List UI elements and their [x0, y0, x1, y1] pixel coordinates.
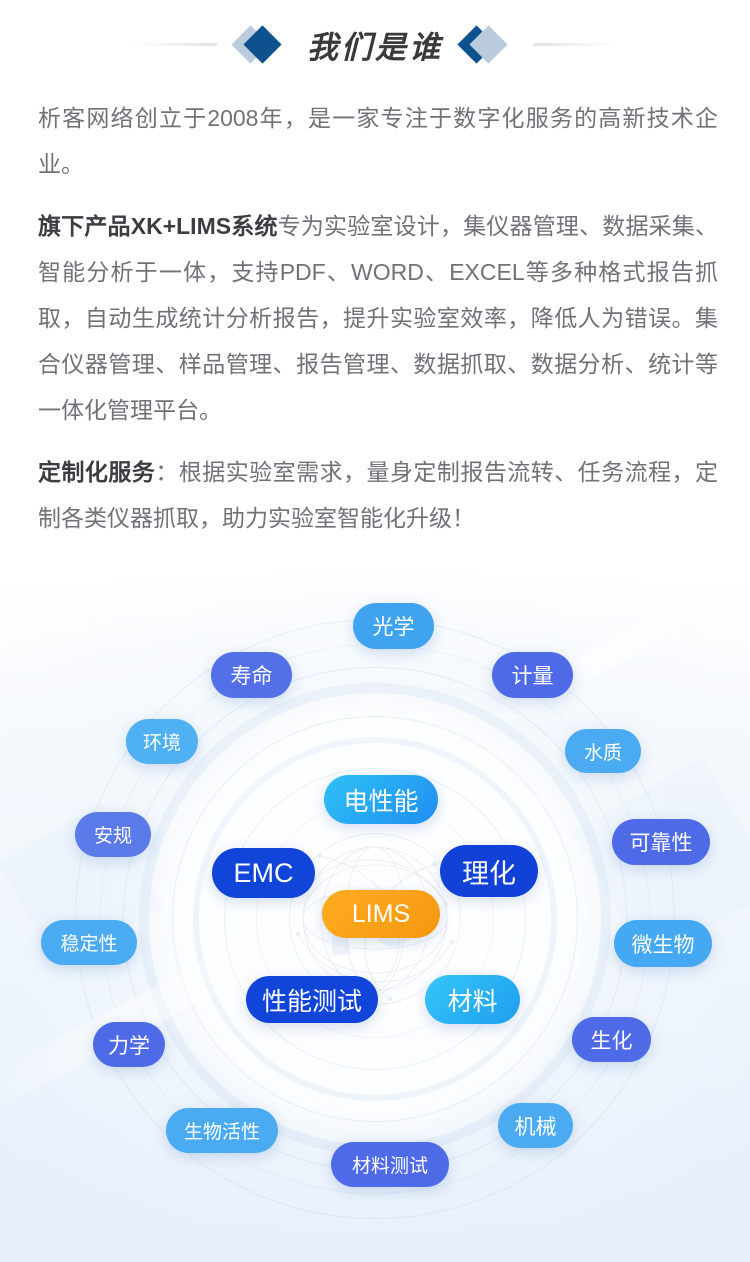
tag-19[interactable]: 机械 [498, 1103, 573, 1148]
header-rule-left [129, 43, 217, 46]
tag-label: 稳定性 [60, 929, 117, 956]
tag-2[interactable]: 寿命 [211, 652, 292, 698]
tag-label: LIMS [352, 900, 410, 929]
tag-label: 机械 [515, 1111, 557, 1141]
tag-label: 寿命 [231, 660, 273, 690]
tag-cloud-section: 光学寿命计量环境水质电性能安规可靠性EMC理化LIMS稳定性微生物性能测试材料生… [0, 575, 750, 1262]
tag-label: 生化 [591, 1025, 633, 1055]
paragraph-2-text: 专为实验室设计，集仪器管理、数据采集、智能分析于一体，支持PDF、WORD、EX… [38, 213, 718, 423]
diamond-pair-icon-left [235, 24, 289, 64]
tag-13[interactable]: 微生物 [614, 920, 712, 967]
tag-1[interactable]: 光学 [353, 603, 434, 649]
tag-label: 性能测试 [262, 982, 362, 1018]
diamond-pair-icon-right [461, 24, 515, 64]
tag-7[interactable]: 安规 [75, 812, 151, 857]
tag-16[interactable]: 生化 [572, 1017, 651, 1062]
tag-label: 安规 [94, 821, 132, 848]
tag-18[interactable]: 生物活性 [166, 1108, 278, 1153]
tag-label: 光学 [373, 611, 415, 641]
tag-12[interactable]: 稳定性 [41, 920, 137, 965]
tag-label: 计量 [512, 660, 554, 690]
paragraph-1-text: 析客网络创立于2008年，是一家专注于数字化服务的高新技术企业。 [38, 105, 718, 177]
tag-label: 可靠性 [630, 827, 693, 857]
header-rule-right [533, 43, 621, 46]
tag-20[interactable]: 材料测试 [331, 1142, 449, 1187]
tag-8[interactable]: 可靠性 [612, 819, 710, 865]
tag-label: 环境 [143, 728, 181, 755]
tag-4[interactable]: 环境 [126, 719, 198, 764]
tag-label: EMC [234, 858, 294, 889]
paragraph-3-lead: 定制化服务 [38, 459, 155, 485]
tag-label: 理化 [462, 852, 516, 891]
tag-6[interactable]: 电性能 [324, 775, 438, 824]
tag-15[interactable]: 材料 [425, 975, 520, 1024]
tag-label: 材料 [447, 982, 497, 1018]
tag-label: 力学 [108, 1030, 150, 1060]
tag-label: 微生物 [632, 929, 695, 959]
tag-label: 生物活性 [184, 1117, 260, 1144]
tag-label: 水质 [584, 738, 622, 765]
tag-label: 电性能 [343, 782, 418, 818]
paragraph-1: 析客网络创立于2008年，是一家专注于数字化服务的高新技术企业。 [38, 95, 718, 187]
tag-10[interactable]: 理化 [440, 845, 538, 897]
tag-5[interactable]: 水质 [565, 729, 641, 773]
tag-label: 材料测试 [352, 1151, 428, 1178]
section-header: 我们是谁 [0, 0, 750, 88]
page-title: 我们是谁 [307, 22, 443, 67]
tag-3[interactable]: 计量 [492, 652, 573, 698]
tag-14[interactable]: 性能测试 [246, 976, 378, 1023]
tag-11[interactable]: LIMS [322, 890, 440, 938]
tag-9[interactable]: EMC [212, 848, 315, 898]
paragraph-2-lead: 旗下产品XK+LIMS系统 [38, 213, 278, 239]
intro-copy: 析客网络创立于2008年，是一家专注于数字化服务的高新技术企业。 旗下产品XK+… [38, 95, 718, 557]
tag-17[interactable]: 力学 [93, 1022, 165, 1067]
paragraph-3: 定制化服务：根据实验室需求，量身定制报告流转、任务流程，定制各类仪器抓取，助力实… [38, 449, 718, 541]
paragraph-2: 旗下产品XK+LIMS系统专为实验室设计，集仪器管理、数据采集、智能分析于一体，… [38, 203, 718, 433]
